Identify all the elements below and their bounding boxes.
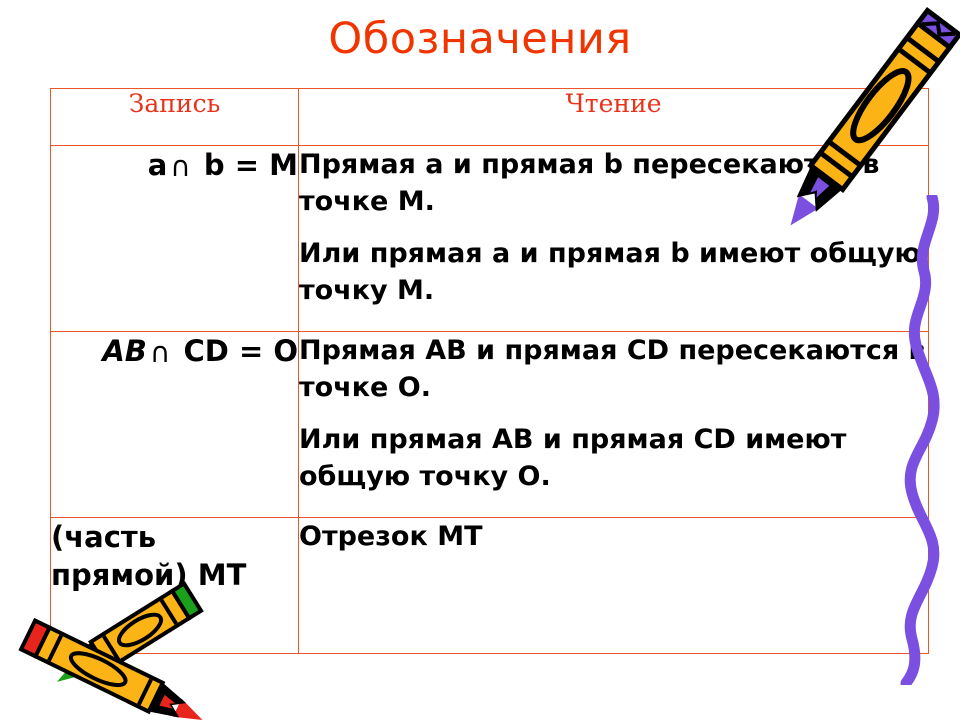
reading-cell-1: Прямая a и прямая b пересекаются в точке… — [299, 146, 929, 332]
reading-1-paragraph-1: Прямая a и прямая b пересекаются в точке… — [299, 146, 928, 221]
reading-cell-3: Отрезок МТ — [299, 518, 929, 654]
record-cell-1: a∩ b = M — [51, 146, 299, 332]
record-1-operand-a: a — [148, 148, 168, 182]
table-row: (часть прямой) МТ Отрезок МТ — [51, 518, 929, 654]
table-header-row: Запись Чтение — [51, 89, 929, 146]
record-2-operand-ab: AB — [102, 334, 147, 368]
record-1-operand-b: b = M — [194, 148, 298, 182]
column-header-record: Запись — [51, 89, 299, 146]
reading-2-paragraph-2: Или прямая АВ и прямая СD имеют общую то… — [299, 421, 928, 496]
record-cell-2: AB∩ CD = O — [51, 332, 299, 518]
reading-1-paragraph-2: Или прямая a и прямая b имеют общую точк… — [299, 235, 928, 310]
record-cell-3: (часть прямой) МТ — [51, 518, 299, 654]
reading-2-paragraph-1: Прямая АВ и прямая СD пересекаются в точ… — [299, 332, 928, 407]
intersection-icon: ∩ — [167, 150, 194, 183]
slide-canvas: Обозначения Запись Чтение a∩ b = M Пря — [0, 0, 960, 720]
column-header-reading: Чтение — [299, 89, 929, 146]
notation-table: Запись Чтение a∩ b = M Прямая a и прямая… — [50, 88, 929, 654]
page-title: Обозначения — [0, 16, 960, 63]
table-row: AB∩ CD = O Прямая АВ и прямая СD пересек… — [51, 332, 929, 518]
record-2-operand-cd: CD = O — [173, 334, 298, 368]
intersection-icon: ∩ — [147, 336, 174, 369]
record-3-line-1: (часть — [51, 518, 298, 556]
table-row: a∩ b = M Прямая a и прямая b пересекаютс… — [51, 146, 929, 332]
record-3-line-2: прямой) МТ — [51, 556, 298, 594]
reading-cell-2: Прямая АВ и прямая СD пересекаются в точ… — [299, 332, 929, 518]
reading-3-paragraph-1: Отрезок МТ — [299, 518, 928, 555]
